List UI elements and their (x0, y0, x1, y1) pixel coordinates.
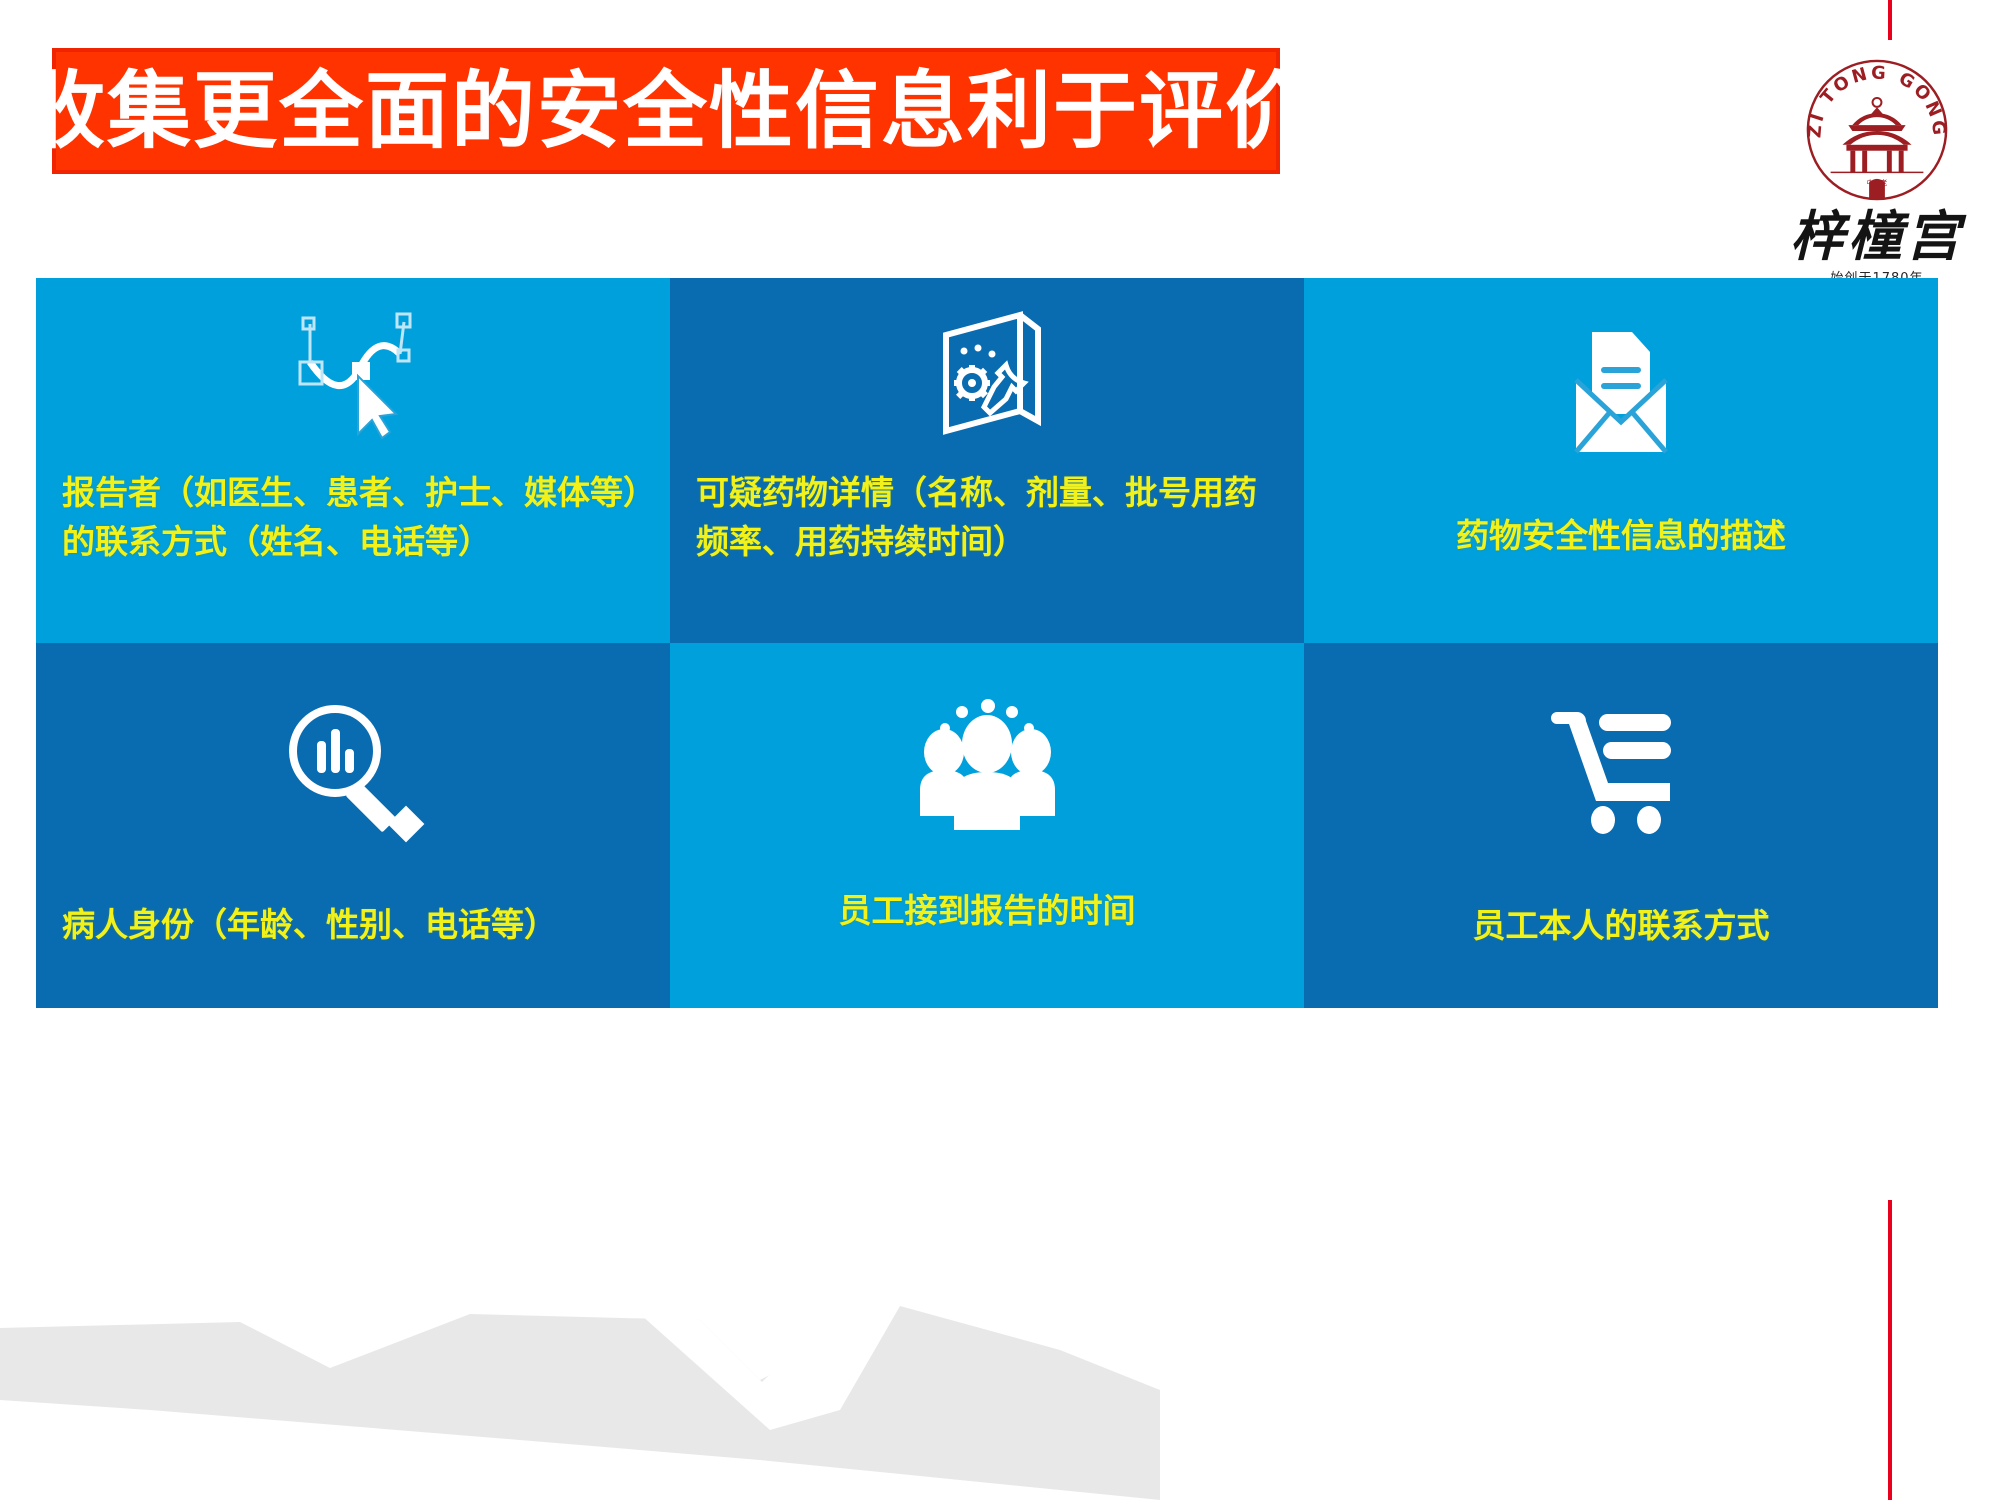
grid-cell-label: 药物安全性信息的描述 (1304, 512, 1938, 561)
slide-title-bar: 收集更全面的安全性信息利于评价 (56, 52, 1276, 170)
grid-cell-drug-safety-description[interactable]: 药物安全性信息的描述 (1304, 278, 1938, 643)
page-title: 收集更全面的安全性信息利于评价 (21, 69, 1311, 153)
shopping-cart-icon (1304, 665, 1938, 870)
brand-logo: ZI TONG GONG 中华老 梓橦宫 始创于1780年 (1782, 56, 1972, 316)
info-grid: 报告者（如医生、患者、护士、媒体等）的联系方式（姓名、电话等） (36, 278, 1938, 1008)
grid-cell-label: 病人身份（年龄、性别、电话等） (36, 901, 670, 950)
settings-screen-icon (670, 292, 1304, 457)
background-watermark (0, 1250, 1160, 1500)
mail-document-icon (1304, 302, 1938, 482)
grid-cell-label: 员工本人的联系方式 (1304, 902, 1938, 951)
people-group-icon (670, 673, 1304, 873)
brand-name: 梓橦宫 (1782, 208, 1972, 265)
zitonggong-seal-icon: ZI TONG GONG 中华老 (1803, 56, 1951, 204)
magnifier-chart-icon (36, 673, 670, 873)
bezier-curve-pen-icon (36, 292, 670, 457)
grid-cell-label: 员工接到报告的时间 (670, 887, 1304, 936)
grid-cell-report-received-time[interactable]: 员工接到报告的时间 (670, 643, 1304, 1008)
grid-cell-patient-identity[interactable]: 病人身份（年龄、性别、电话等） (36, 643, 670, 1008)
grid-cell-employee-contact[interactable]: 员工本人的联系方式 (1304, 643, 1938, 1008)
grid-cell-label: 报告者（如医生、患者、护士、媒体等）的联系方式（姓名、电话等） (36, 469, 670, 567)
grid-cell-label: 可疑药物详情（名称、剂量、批号用药频率、用药持续时间） (670, 469, 1304, 567)
grid-cell-reporter-contact[interactable]: 报告者（如医生、患者、护士、媒体等）的联系方式（姓名、电话等） (36, 278, 670, 643)
grid-cell-suspect-drug-details[interactable]: 可疑药物详情（名称、剂量、批号用药频率、用药持续时间） (670, 278, 1304, 643)
